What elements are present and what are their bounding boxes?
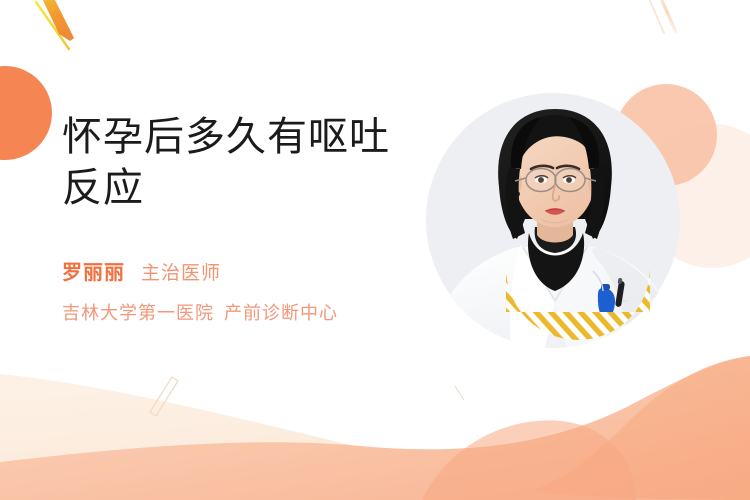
department-label: 产前诊断中心 [224, 303, 338, 324]
ribbon-orange-blade-decor [40, 0, 74, 41]
faint-diagonal-lines-decor [648, 0, 676, 33]
faint-stroke-decor [455, 386, 464, 400]
wave-mid-shape [0, 356, 750, 500]
wave-light-shape [0, 374, 750, 500]
doctor-info-card: 怀孕后多久有呕吐 反应 罗丽丽主治医师 吉林大学第一医院产前诊断中心 [0, 0, 750, 500]
text-content-block: 怀孕后多久有呕吐 反应 罗丽丽主治医师 吉林大学第一医院产前诊断中心 [62, 112, 422, 325]
doctor-head [498, 109, 612, 239]
page-title: 怀孕后多久有呕吐 反应 [62, 112, 422, 214]
doctor-credential-line: 罗丽丽主治医师 [62, 256, 422, 285]
doctor-name: 罗丽丽 [62, 260, 125, 284]
doctor-portrait-illustration [425, 95, 685, 355]
ribbon-yellow-line-decor [36, 2, 69, 49]
orange-circle-decor [0, 66, 52, 160]
doctor-affiliation-line: 吉林大学第一医院产前诊断中心 [62, 299, 422, 325]
outline-accent-decor [150, 377, 178, 416]
doctor-portrait [425, 95, 685, 355]
hospital-label: 吉林大学第一医院 [62, 303, 214, 324]
doctor-title: 主治医师 [141, 262, 221, 284]
wave-dark-shape [422, 356, 750, 500]
